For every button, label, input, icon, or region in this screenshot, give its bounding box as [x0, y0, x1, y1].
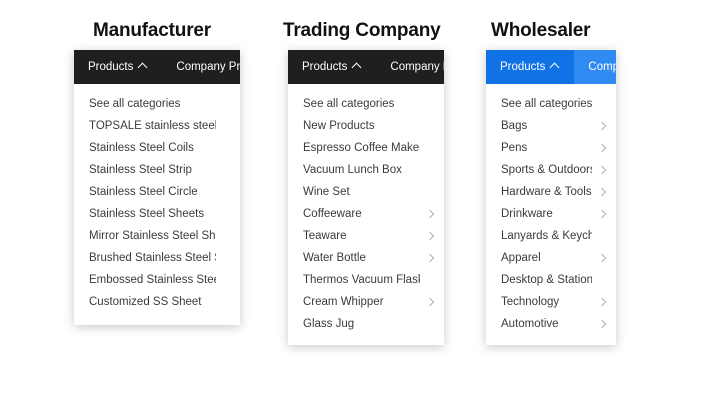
menu-item-label: Pens [501, 142, 527, 154]
menu-item-label: Desktop & Stationery [501, 274, 592, 286]
menu-item-label: Teaware [303, 230, 346, 242]
dropdown-panel: Products Company Profile See all categor… [486, 50, 616, 345]
list-item[interactable]: Stainless Steel Sheets [74, 203, 240, 225]
chevron-right-icon [426, 210, 434, 218]
chevron-placeholder [222, 188, 230, 196]
chevron-placeholder [222, 276, 230, 284]
list-item[interactable]: Bags [486, 115, 616, 137]
menu-item-label: Sports & Outdoors [501, 164, 592, 176]
tab-label: Company Profile [176, 50, 240, 84]
comparison-board: Manufacturer Products Company Profile Se… [0, 0, 712, 401]
list-item[interactable]: Mirror Stainless Steel Sheet [74, 225, 240, 247]
chevron-right-icon [598, 122, 606, 130]
chevron-up-icon [139, 62, 148, 71]
list-item[interactable]: Customized SS Sheet [74, 291, 240, 313]
list-item[interactable]: Stainless Steel Circle [74, 181, 240, 203]
chevron-placeholder [598, 276, 606, 284]
chevron-right-icon [598, 144, 606, 152]
menu-item-label: Mirror Stainless Steel Sheet [89, 230, 216, 242]
tab-products[interactable]: Products [288, 50, 376, 84]
tab-label: Company Profile [588, 50, 616, 84]
menu-item-label: See all categories [303, 98, 394, 110]
chevron-up-icon [353, 62, 362, 71]
menu-item-label: Glass Jug [303, 318, 354, 330]
list-item[interactable]: Cream Whipper [288, 291, 444, 313]
chevron-up-icon [551, 62, 560, 71]
chevron-right-icon [426, 232, 434, 240]
menu-item-label: Vacuum Lunch Box [303, 164, 402, 176]
chevron-placeholder [426, 166, 434, 174]
chevron-placeholder [426, 320, 434, 328]
menu-item-label: Wine Set [303, 186, 350, 198]
chevron-placeholder [222, 144, 230, 152]
chevron-placeholder [426, 276, 434, 284]
tab-company-profile[interactable]: Company Profile [376, 50, 444, 84]
chevron-right-icon [598, 320, 606, 328]
menu-list: See all categories Bags Pens Sports & Ou… [486, 84, 616, 345]
menu-item-label: See all categories [501, 98, 592, 110]
menu-item-label: Water Bottle [303, 252, 366, 264]
list-item[interactable]: Water Bottle [288, 247, 444, 269]
menu-item-label: Technology [501, 296, 559, 308]
menu-item-label: Thermos Vacuum Flask [303, 274, 420, 286]
list-item[interactable]: Vacuum Lunch Box [288, 159, 444, 181]
list-item[interactable]: Technology [486, 291, 616, 313]
chevron-placeholder [598, 232, 606, 240]
list-item[interactable]: Pens [486, 137, 616, 159]
menu-item-label: Stainless Steel Coils [89, 142, 194, 154]
chevron-placeholder [222, 122, 230, 130]
list-item[interactable]: Stainless Steel Coils [74, 137, 240, 159]
menu-item-label: Stainless Steel Strip [89, 164, 192, 176]
list-item[interactable]: Glass Jug [288, 313, 444, 335]
chevron-placeholder [222, 100, 230, 108]
menu-item-label: Espresso Coffee Maker [303, 142, 420, 154]
tab-bar: Products Company Profile [74, 50, 240, 84]
tab-label: Products [88, 50, 133, 84]
tab-label: Products [302, 50, 347, 84]
chevron-placeholder [426, 188, 434, 196]
menu-item-label: Apparel [501, 252, 541, 264]
chevron-placeholder [426, 144, 434, 152]
menu-item-label: Stainless Steel Circle [89, 186, 198, 198]
menu-item-label: Cream Whipper [303, 296, 384, 308]
chevron-right-icon [426, 254, 434, 262]
list-item[interactable]: Espresso Coffee Maker [288, 137, 444, 159]
tab-company-profile[interactable]: Company Profile [162, 50, 240, 84]
chevron-placeholder [222, 232, 230, 240]
chevron-right-icon [598, 210, 606, 218]
list-item[interactable]: Thermos Vacuum Flask [288, 269, 444, 291]
list-item[interactable]: Coffeeware [288, 203, 444, 225]
list-item[interactable]: Stainless Steel Strip [74, 159, 240, 181]
tab-label: Products [500, 50, 545, 84]
list-item[interactable]: See all categories [486, 93, 616, 115]
list-item[interactable]: Automotive [486, 313, 616, 335]
list-item[interactable]: Drinkware [486, 203, 616, 225]
chevron-right-icon [598, 298, 606, 306]
chevron-placeholder [222, 254, 230, 262]
chevron-placeholder [222, 166, 230, 174]
menu-item-label: Stainless Steel Sheets [89, 208, 204, 220]
column-title: Trading Company [283, 19, 440, 43]
menu-item-label: Automotive [501, 318, 559, 330]
list-item[interactable]: TOPSALE stainless steel [74, 115, 240, 137]
list-item[interactable]: Embossed Stainless Steel ... [74, 269, 240, 291]
list-item[interactable]: Sports & Outdoors [486, 159, 616, 181]
list-item[interactable]: Teaware [288, 225, 444, 247]
chevron-right-icon [598, 188, 606, 196]
menu-item-label: Lanyards & Keychains [501, 230, 592, 242]
tab-products[interactable]: Products [486, 50, 574, 84]
list-item[interactable]: See all categories [288, 93, 444, 115]
menu-item-label: Hardware & Tools [501, 186, 592, 198]
list-item[interactable]: Apparel [486, 247, 616, 269]
chevron-placeholder [222, 210, 230, 218]
menu-item-label: Brushed Stainless Steel Sh... [89, 252, 216, 264]
menu-item-label: Bags [501, 120, 527, 132]
menu-item-label: Drinkware [501, 208, 553, 220]
menu-item-label: Embossed Stainless Steel ... [89, 274, 216, 286]
dropdown-panel: Products Company Profile See all categor… [288, 50, 444, 345]
menu-list: See all categories New Products Espresso… [288, 84, 444, 345]
list-item[interactable]: Hardware & Tools [486, 181, 616, 203]
chevron-right-icon [426, 298, 434, 306]
column-title: Wholesaler [491, 19, 590, 43]
chevron-placeholder [426, 122, 434, 130]
menu-list: See all categories TOPSALE stainless ste… [74, 84, 240, 323]
menu-item-label: TOPSALE stainless steel [89, 120, 216, 132]
tab-bar: Products Company Profile [288, 50, 444, 84]
tab-label: Company Profile [390, 50, 444, 84]
chevron-placeholder [598, 100, 606, 108]
list-item[interactable]: New Products [288, 115, 444, 137]
list-item[interactable]: Brushed Stainless Steel Sh... [74, 247, 240, 269]
list-item[interactable]: Desktop & Stationery [486, 269, 616, 291]
tab-company-profile[interactable]: Company Profile [574, 50, 616, 84]
column-title: Manufacturer [93, 19, 211, 43]
chevron-right-icon [598, 254, 606, 262]
list-item[interactable]: See all categories [74, 93, 240, 115]
menu-item-label: Coffeeware [303, 208, 362, 220]
menu-item-label: See all categories [89, 98, 180, 110]
dropdown-panel: Products Company Profile See all categor… [74, 50, 240, 325]
list-item[interactable]: Lanyards & Keychains [486, 225, 616, 247]
tab-products[interactable]: Products [74, 50, 162, 84]
menu-item-label: Customized SS Sheet [89, 296, 202, 308]
list-item[interactable]: Wine Set [288, 181, 444, 203]
chevron-placeholder [222, 298, 230, 306]
chevron-right-icon [598, 166, 606, 174]
chevron-placeholder [426, 100, 434, 108]
menu-item-label: New Products [303, 120, 375, 132]
tab-bar: Products Company Profile [486, 50, 616, 84]
